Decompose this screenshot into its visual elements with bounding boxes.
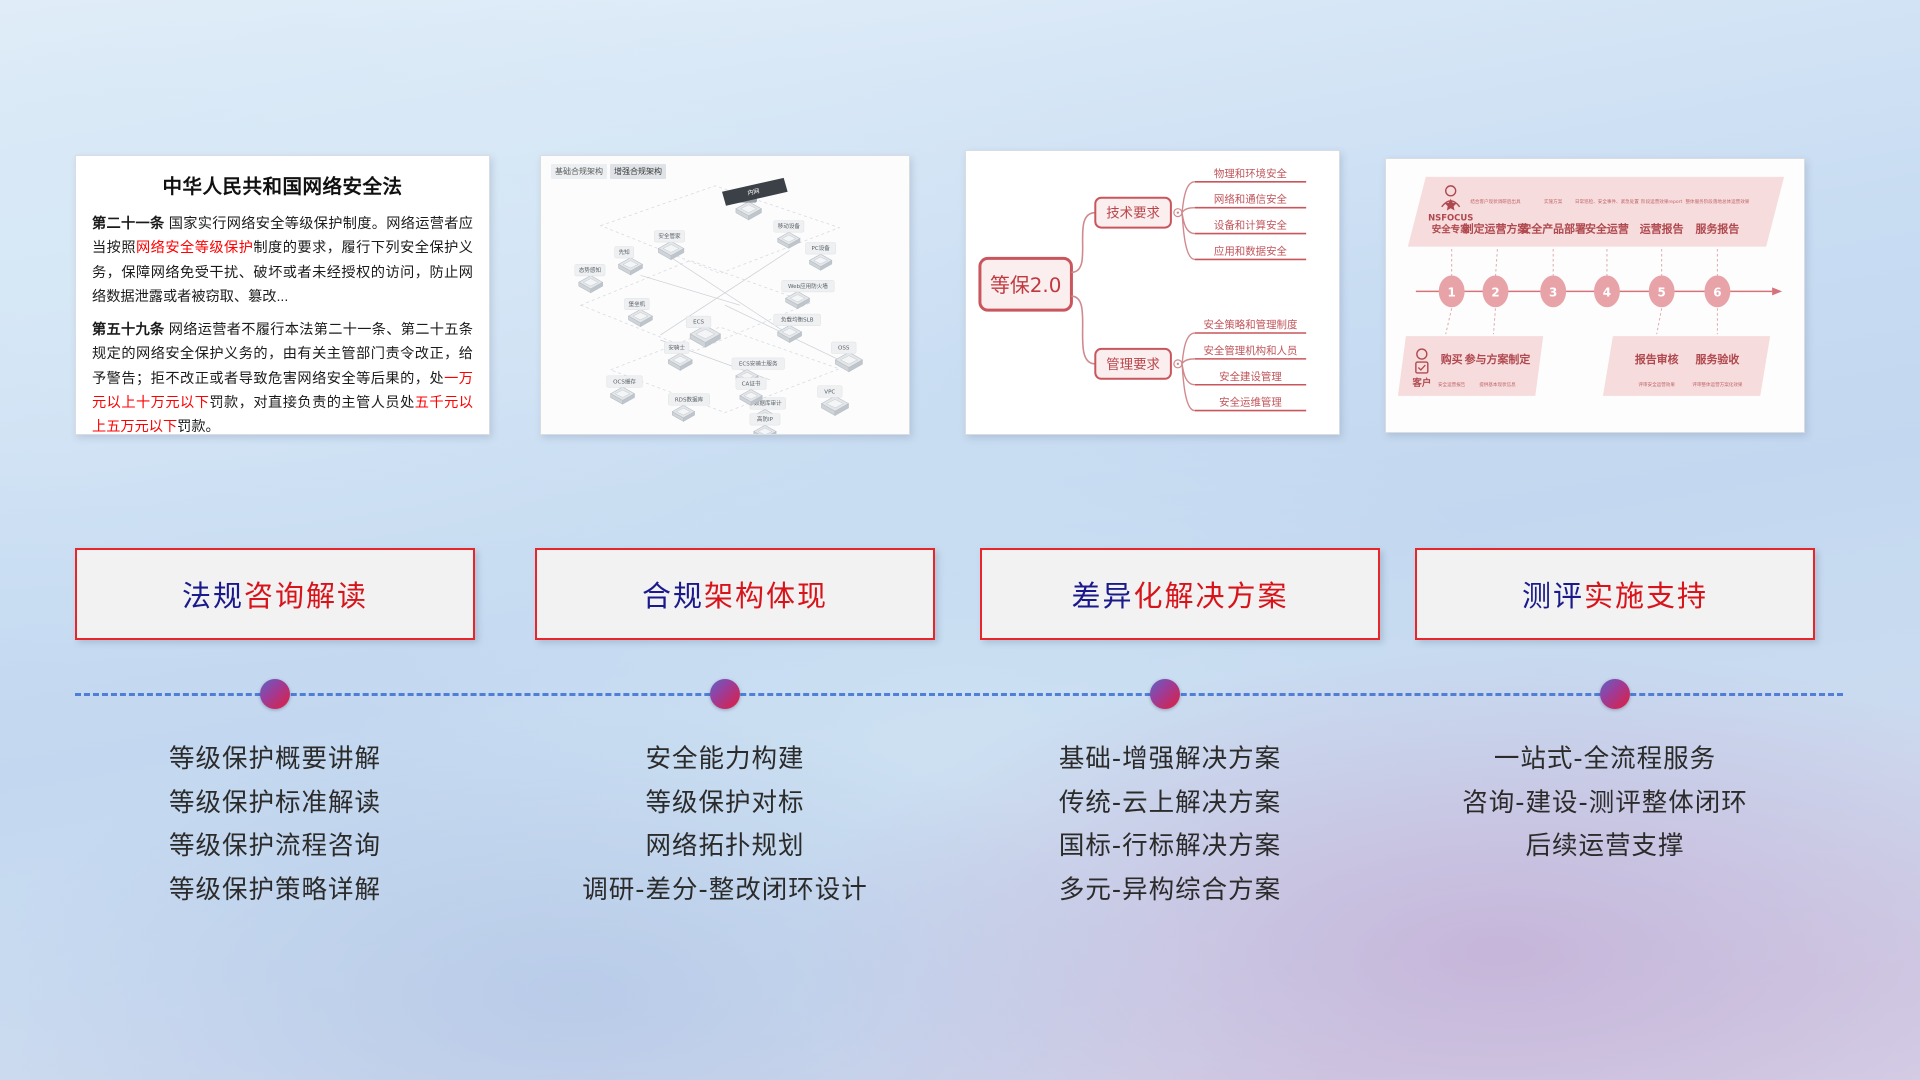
- title-box-differentiated-solution[interactable]: 差异化解决方案: [980, 548, 1380, 640]
- svg-text:日常巡检、安全事件、紧急处置: 日常巡检、安全事件、紧急处置: [1575, 198, 1639, 205]
- title-boxes-row: 法规咨询解读 合规架构体现 差异化解决方案 测评实施支持: [0, 548, 1920, 640]
- svg-text:先知: 先知: [619, 248, 631, 256]
- svg-text:运营报告: 运营报告: [1640, 222, 1684, 236]
- svg-text:客户: 客户: [1411, 377, 1431, 389]
- svg-text:OCS缓存: OCS缓存: [613, 377, 636, 385]
- svg-text:NSFOCUS: NSFOCUS: [1428, 213, 1473, 223]
- title-box-1-label: 合规架构体现: [642, 573, 828, 615]
- title-0-prefix: 法规: [182, 579, 244, 613]
- list-item: 网络拓扑规划: [515, 825, 935, 869]
- svg-text:5: 5: [1658, 285, 1666, 299]
- list-item: 调研-差分-整改闭环设计: [515, 869, 935, 913]
- list-item: 后续运营支撑: [1395, 825, 1815, 869]
- svg-text:堡垒机: 堡垒机: [629, 300, 646, 308]
- law-title: 中华人民共和国网络安全法: [92, 170, 473, 199]
- timeline-dot-2[interactable]: [710, 679, 740, 709]
- svg-text:制定运营方案: 制定运营方案: [1463, 222, 1530, 236]
- law-article-59: 第五十九条 网络运营者不履行本法第二十一条、第二十五条规定的网络安全保护义务的，…: [92, 318, 473, 435]
- title-1-suffix: 架构体现: [704, 579, 828, 613]
- svg-text:应用和数据安全: 应用和数据安全: [1214, 244, 1288, 257]
- card-service-timeline[interactable]: 123456NSFOCUS安全专家客户结合客户现状调研后出具制定运营方案实施方案…: [1385, 158, 1805, 433]
- mindmap-diagram: 等保2.0技术要求物理和环境安全网络和通信安全设备和计算安全应用和数据安全管理要…: [966, 151, 1339, 434]
- list-item: 安全能力构建: [515, 738, 935, 782]
- cards-row: 中华人民共和国网络安全法 第二十一条 国家实行网络安全等级保护制度。网络运营者应…: [0, 0, 1920, 460]
- title-1-prefix: 合规: [642, 579, 704, 613]
- svg-text:ECS安骑士服务: ECS安骑士服务: [739, 359, 778, 367]
- svg-text:3: 3: [1549, 285, 1557, 299]
- list-item: 等级保护流程咨询: [65, 825, 485, 869]
- svg-text:PC设备: PC设备: [812, 244, 831, 252]
- svg-text:ECS: ECS: [693, 320, 704, 326]
- svg-text:安全运维管理: 安全运维管理: [1219, 396, 1282, 409]
- svg-text:安全策略和管理制度: 安全策略和管理制度: [1203, 318, 1297, 331]
- svg-text:提供基本现状信息: 提供基本现状信息: [1479, 381, 1516, 388]
- bullet-column-2: 基础-增强解决方案 传统-云上解决方案 国标-行标解决方案 多元-异构综合方案: [960, 738, 1380, 912]
- card-cybersecurity-law[interactable]: 中华人民共和国网络安全法 第二十一条 国家实行网络安全等级保护制度。网络运营者应…: [75, 155, 490, 435]
- svg-text:4: 4: [1603, 285, 1611, 299]
- title-2-suffix: 化解决方案: [1134, 579, 1289, 613]
- timeline-dashed-line: [75, 693, 1843, 696]
- svg-text:2: 2: [1491, 285, 1499, 299]
- svg-text:高防IP: 高防IP: [757, 415, 774, 423]
- svg-text:服务验收: 服务验收: [1696, 352, 1740, 366]
- title-3-suffix: 实施支持: [1584, 579, 1708, 613]
- bullet-columns: 等级保护概要讲解 等级保护标准解读 等级保护流程咨询 等级保护策略详解 安全能力…: [0, 738, 1920, 968]
- article-59-text-2: 罚款，对直接负责的主管人员处: [209, 395, 414, 411]
- list-item: 等级保护标准解读: [65, 782, 485, 826]
- title-box-2-label: 差异化解决方案: [1071, 573, 1288, 615]
- svg-text:技术要求: 技术要求: [1106, 206, 1160, 222]
- timeline-rail: [75, 693, 1843, 696]
- list-item: 等级保护概要讲解: [65, 738, 485, 782]
- title-box-evaluation-support[interactable]: 测评实施支持: [1415, 548, 1815, 640]
- bullet-column-0: 等级保护概要讲解 等级保护标准解读 等级保护流程咨询 等级保护策略详解: [65, 738, 485, 912]
- title-box-3-label: 测评实施支持: [1522, 573, 1708, 615]
- svg-text:服务报告: 服务报告: [1696, 222, 1740, 236]
- svg-text:安全运营: 安全运营: [1585, 222, 1629, 236]
- svg-text:安全运营报告: 安全运营报告: [1438, 381, 1466, 388]
- svg-text:报告审核: 报告审核: [1635, 352, 1679, 366]
- timeline-dot-3[interactable]: [1150, 679, 1180, 709]
- svg-text:6: 6: [1713, 285, 1721, 299]
- svg-text:网络和通信安全: 网络和通信安全: [1214, 193, 1288, 206]
- svg-text:结合客户现状调研后出具: 结合客户现状调研后出具: [1470, 198, 1521, 205]
- svg-text:设备和计算安全: 设备和计算安全: [1214, 219, 1288, 232]
- svg-text:OSS: OSS: [838, 346, 850, 352]
- card-mindmap-dengbao[interactable]: 等保2.0技术要求物理和环境安全网络和通信安全设备和计算安全应用和数据安全管理要…: [965, 150, 1340, 435]
- svg-text:Web应用防火墙: Web应用防火墙: [788, 282, 828, 290]
- svg-text:物理和环境安全: 物理和环境安全: [1214, 167, 1288, 180]
- list-item: 传统-云上解决方案: [960, 782, 1380, 826]
- svg-text:CA证书: CA证书: [742, 379, 761, 387]
- title-3-prefix: 测评: [1522, 579, 1584, 613]
- svg-text:评审安全运营效果: 评审安全运营效果: [1638, 381, 1675, 388]
- svg-text:购买: 购买: [1441, 352, 1463, 366]
- svg-text:实施方案: 实施方案: [1544, 198, 1563, 205]
- svg-text:VPC: VPC: [824, 389, 835, 395]
- article-59-text-3: 罚款。: [177, 419, 220, 435]
- bullet-column-3: 一站式-全流程服务 咨询-建设-测评整体闭环 后续运营支撑: [1395, 738, 1815, 869]
- list-item: 等级保护对标: [515, 782, 935, 826]
- svg-text:安全管家: 安全管家: [658, 232, 681, 240]
- svg-text:安骑士: 安骑士: [668, 344, 685, 352]
- svg-text:评审整体运营方案化效果: 评审整体运营方案化效果: [1692, 381, 1743, 388]
- svg-text:安全管理机构和人员: 安全管理机构和人员: [1203, 344, 1297, 357]
- article-21-highlight: 网络安全等级保护: [136, 240, 253, 256]
- list-item: 多元-异构综合方案: [960, 869, 1380, 913]
- svg-text:1: 1: [1448, 285, 1456, 299]
- svg-text:态势感知: 态势感知: [579, 266, 602, 274]
- title-box-0-label: 法规咨询解读: [182, 573, 368, 615]
- svg-text:负载均衡SLB: 负载均衡SLB: [781, 316, 814, 324]
- list-item: 咨询-建设-测评整体闭环: [1395, 782, 1815, 826]
- list-item: 国标-行标解决方案: [960, 825, 1380, 869]
- law-article-21: 第二十一条 国家实行网络安全等级保护制度。网络运营者应当按照网络安全等级保护制度…: [92, 212, 473, 310]
- svg-text:安全产品部署: 安全产品部署: [1520, 222, 1586, 236]
- svg-text:管理要求: 管理要求: [1106, 357, 1160, 373]
- title-0-suffix: 咨询解读: [244, 579, 368, 613]
- svg-text:等保2.0: 等保2.0: [990, 274, 1061, 297]
- title-box-regulation-consulting[interactable]: 法规咨询解读: [75, 548, 475, 640]
- card-compliance-architecture[interactable]: 基础合规架构 增强合规架构 态势感知先知安全管家数据库堡垒机ECS安骑士ECS安…: [540, 155, 910, 435]
- svg-text:参与方案制定: 参与方案制定: [1465, 352, 1531, 366]
- bullet-column-1: 安全能力构建 等级保护对标 网络拓扑规划 调研-差分-整改闭环设计: [515, 738, 935, 912]
- architecture-diagram: 态势感知先知安全管家数据库堡垒机ECS安骑士ECS安骑士服务OCS缓存RDS数据…: [541, 156, 909, 434]
- svg-text:安全建设管理: 安全建设管理: [1219, 370, 1282, 383]
- list-item: 基础-增强解决方案: [960, 738, 1380, 782]
- title-2-prefix: 差异: [1071, 579, 1133, 613]
- timeline-diagram: 123456NSFOCUS安全专家客户结合客户现状调研后出具制定运营方案实施方案…: [1386, 159, 1804, 433]
- svg-text:整体服务阶段落地总体运营效果: 整体服务阶段落地总体运营效果: [1685, 198, 1749, 205]
- svg-text:移动设备: 移动设备: [778, 222, 801, 230]
- svg-text:RDS数据库: RDS数据库: [675, 395, 704, 403]
- timeline-dot-1[interactable]: [260, 679, 290, 709]
- timeline-dot-4[interactable]: [1600, 679, 1630, 709]
- list-item: 一站式-全流程服务: [1395, 738, 1815, 782]
- svg-text:阶段运营效果report: 阶段运营效果report: [1641, 198, 1683, 205]
- article-59-label: 第五十九条: [92, 322, 165, 338]
- list-item: 等级保护策略详解: [65, 869, 485, 913]
- article-21-label: 第二十一条: [92, 216, 165, 232]
- title-box-compliance-architecture[interactable]: 合规架构体现: [535, 548, 935, 640]
